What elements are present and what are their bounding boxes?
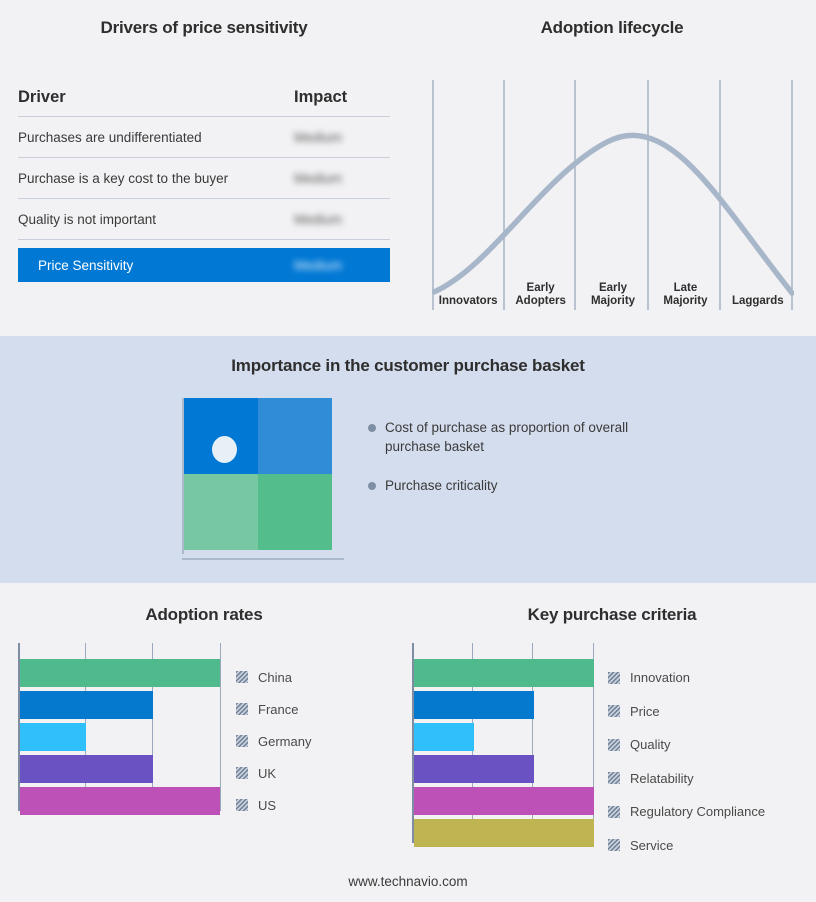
bar-france xyxy=(20,691,153,719)
legend-label: China xyxy=(258,670,292,685)
bar-germany xyxy=(20,723,86,751)
legend-item-us: US xyxy=(236,789,311,821)
hatched-swatch-icon xyxy=(608,705,620,717)
driver-impact: Medium xyxy=(294,130,390,145)
key-purchase-criteria-bar-chart xyxy=(412,643,596,843)
legend-label: UK xyxy=(258,766,276,781)
adoption-panel-title: Adoption rates xyxy=(0,605,408,625)
panel-key-purchase-criteria: Key purchase criteria xyxy=(408,583,816,902)
legend-label: Relatability xyxy=(630,771,694,786)
lifecycle-stage-late-majority: LateMajority xyxy=(649,282,721,310)
hatched-swatch-icon xyxy=(608,772,620,784)
basket-legend-label: Purchase criticality xyxy=(385,476,498,495)
driver-impact: Medium xyxy=(294,212,390,227)
list-item: Purchase criticality xyxy=(368,476,668,495)
redacted-value: Medium xyxy=(294,212,342,227)
hatched-swatch-icon xyxy=(236,671,248,683)
quadrant-bottom-left xyxy=(184,474,258,550)
footer-url: www.technavio.com xyxy=(0,874,816,889)
quadrant-grid xyxy=(184,398,332,550)
legend-label: US xyxy=(258,798,276,813)
hatched-swatch-icon xyxy=(236,767,248,779)
lifecycle-stage-innovators: Innovators xyxy=(432,295,504,310)
legend-label: Germany xyxy=(258,734,311,749)
purchase-basket-quadrant-chart xyxy=(174,398,344,563)
list-item: Cost of purchase as proportion of overal… xyxy=(368,418,668,456)
basket-legend: Cost of purchase as proportion of overal… xyxy=(368,418,668,515)
redacted-value: Medium xyxy=(294,130,342,145)
criteria-panel-title: Key purchase criteria xyxy=(408,605,816,625)
adoption-bars xyxy=(20,659,222,815)
legend-item-uk: UK xyxy=(236,757,311,789)
hatched-swatch-icon xyxy=(608,839,620,851)
bullet-dot-icon xyxy=(368,482,376,490)
criteria-bars xyxy=(414,659,596,847)
quadrant-bottom-right xyxy=(258,474,332,550)
quadrant-data-marker xyxy=(212,436,237,463)
bar-us xyxy=(20,787,220,815)
hatched-swatch-icon xyxy=(608,672,620,684)
legend-item-price: Price xyxy=(608,695,765,729)
bar-service xyxy=(414,819,594,847)
table-row: Quality is not important Medium xyxy=(18,199,390,240)
price-sensitivity-summary-row: Price Sensitivity Medium xyxy=(18,248,390,282)
legend-item-france: France xyxy=(236,693,311,725)
redacted-value: Medium xyxy=(294,258,342,273)
bar-uk xyxy=(20,755,153,783)
hatched-swatch-icon xyxy=(236,703,248,715)
lifecycle-stage-early-adopters: EarlyAdopters xyxy=(504,282,576,310)
driver-name: Quality is not important xyxy=(18,212,294,227)
table-row: Purchase is a key cost to the buyer Medi… xyxy=(18,158,390,199)
bar-regulatory-compliance xyxy=(414,787,594,815)
hatched-swatch-icon xyxy=(608,739,620,751)
panel-drivers-of-price-sensitivity: Drivers of price sensitivity Driver Impa… xyxy=(0,0,408,336)
hatched-swatch-icon xyxy=(608,806,620,818)
bar-relatability xyxy=(414,755,534,783)
bar-quality xyxy=(414,723,474,751)
criteria-legend: Innovation Price Quality Relatability Re… xyxy=(608,661,765,862)
bar-innovation xyxy=(414,659,594,687)
adoption-rates-bar-chart xyxy=(18,643,222,811)
legend-label: France xyxy=(258,702,298,717)
bottom-band: Adoption rates C xyxy=(0,583,816,902)
driver-name: Purchase is a key cost to the buyer xyxy=(18,171,294,186)
hatched-swatch-icon xyxy=(236,799,248,811)
legend-item-quality: Quality xyxy=(608,728,765,762)
drivers-panel-title: Drivers of price sensitivity xyxy=(0,18,408,38)
drivers-table: Driver Impact Purchases are undifferenti… xyxy=(18,88,390,282)
summary-impact: Medium xyxy=(294,258,390,273)
table-row: Purchases are undifferentiated Medium xyxy=(18,117,390,158)
driver-impact: Medium xyxy=(294,171,390,186)
column-header-impact: Impact xyxy=(294,88,390,107)
legend-label: Quality xyxy=(630,737,670,752)
adoption-legend: China France Germany UK US xyxy=(236,661,311,821)
bar-price xyxy=(414,691,534,719)
bullet-dot-icon xyxy=(368,424,376,432)
legend-label: Regulatory Compliance xyxy=(630,804,765,819)
column-header-driver: Driver xyxy=(18,88,294,107)
redacted-value: Medium xyxy=(294,171,342,186)
legend-item-service: Service xyxy=(608,829,765,863)
panel-adoption-rates: Adoption rates C xyxy=(0,583,408,902)
legend-item-regulatory-compliance: Regulatory Compliance xyxy=(608,795,765,829)
lifecycle-stage-early-majority: EarlyMajority xyxy=(577,282,649,310)
basket-legend-label: Cost of purchase as proportion of overal… xyxy=(385,418,645,456)
legend-item-relatability: Relatability xyxy=(608,762,765,796)
lifecycle-stage-laggards: Laggards xyxy=(722,295,794,310)
panel-adoption-lifecycle: Adoption lifecycle Innovators EarlyAdopt… xyxy=(408,0,816,336)
legend-item-germany: Germany xyxy=(236,725,311,757)
legend-label: Price xyxy=(630,704,660,719)
quadrant-top-right xyxy=(258,398,332,474)
legend-item-innovation: Innovation xyxy=(608,661,765,695)
lifecycle-panel-title: Adoption lifecycle xyxy=(408,18,816,38)
legend-item-china: China xyxy=(236,661,311,693)
basket-panel-title: Importance in the customer purchase bask… xyxy=(0,356,816,376)
drivers-table-header: Driver Impact xyxy=(18,88,390,117)
summary-label: Price Sensitivity xyxy=(38,258,294,273)
lifecycle-stage-labels: Innovators EarlyAdopters EarlyMajority L… xyxy=(432,270,794,310)
legend-label: Service xyxy=(630,838,673,853)
bar-china xyxy=(20,659,220,687)
hatched-swatch-icon xyxy=(236,735,248,747)
legend-label: Innovation xyxy=(630,670,690,685)
driver-name: Purchases are undifferentiated xyxy=(18,130,294,145)
quadrant-x-axis xyxy=(182,558,344,560)
top-band: Drivers of price sensitivity Driver Impa… xyxy=(0,0,816,336)
